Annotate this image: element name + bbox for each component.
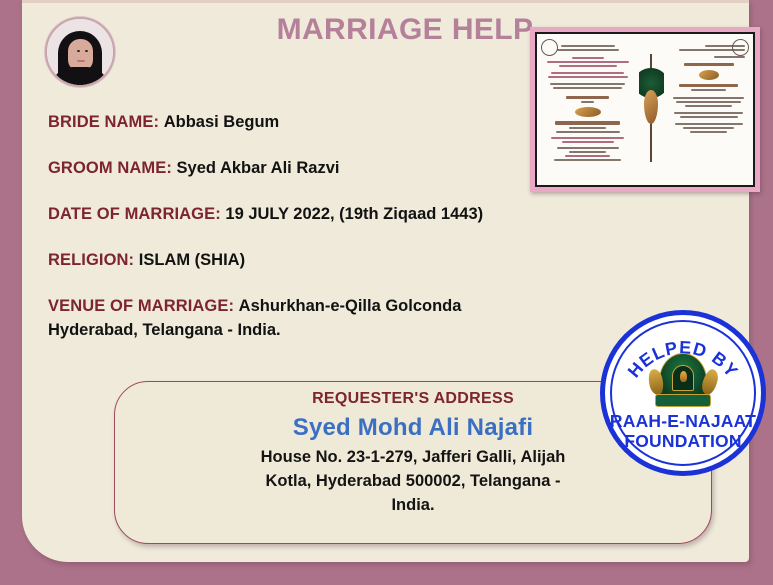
detail-value: Abbasi Begum: [164, 113, 280, 131]
detail-value: Ashurkhan-e-Qilla Golconda: [239, 297, 462, 315]
emblem-banner-shape: [655, 394, 711, 407]
invitation-ornament-column: [639, 34, 665, 185]
invitation-seal-icon: [541, 39, 558, 56]
helped-by-seal: HELPED BY RAAH-E-NAJAAT FOUNDATION: [600, 310, 766, 476]
detail-value: 19 JULY 2022, (19th Ziqaad 1443): [225, 205, 483, 223]
seal-foundation-name: RAAH-E-NAJAAT FOUNDATION: [605, 411, 761, 451]
detail-row-religion: RELIGION: ISLAM (SHIA): [48, 249, 528, 273]
detail-label: VENUE OF MARRIAGE:: [48, 297, 234, 315]
marriage-details-list: BRIDE NAME: Abbasi Begum GROOM NAME: Sye…: [48, 111, 528, 365]
requester-address-text: House No. 23-1-279, Jafferi Galli, Alija…: [248, 446, 578, 518]
invitation-seal-icon-2: [732, 39, 749, 56]
avatar: [45, 17, 115, 87]
page-title: MARRIAGE HELP: [270, 13, 540, 47]
detail-row-groom-name: GROOM NAME: Syed Akbar Ali Razvi: [48, 157, 528, 181]
detail-row-bride-name: BRIDE NAME: Abbasi Begum: [48, 111, 528, 135]
detail-value-line2: Hyderabad, Telangana - India.: [48, 319, 528, 343]
mouth-shape: [77, 60, 85, 62]
wedding-invitation-card[interactable]: [530, 27, 760, 192]
detail-row-venue-of-marriage: VENUE OF MARRIAGE: Ashurkhan-e-Qilla Gol…: [48, 295, 528, 343]
detail-label: BRIDE NAME:: [48, 113, 159, 131]
detail-value: Syed Akbar Ali Razvi: [177, 159, 340, 177]
seal-name-line1: RAAH-E-NAJAAT: [605, 411, 761, 431]
eye-left-shape: [77, 50, 80, 52]
bride-photo: [47, 19, 113, 85]
detail-row-date-of-marriage: DATE OF MARRIAGE: 19 JULY 2022, (19th Zi…: [48, 203, 528, 227]
eye-right-shape: [85, 50, 88, 52]
marriage-help-card: MARRIAGE HELP: [0, 0, 773, 585]
invitation-inner-frame: [535, 32, 755, 187]
detail-label: GROOM NAME:: [48, 159, 172, 177]
seal-name-line2: FOUNDATION: [605, 431, 761, 451]
emblem-flame-icon: [680, 371, 687, 382]
invitation-urdu-column: [664, 34, 753, 185]
detail-value: ISLAM (SHIA): [139, 251, 245, 269]
invitation-english-column: [537, 34, 639, 185]
detail-label: RELIGION:: [48, 251, 134, 269]
foundation-emblem-icon: [653, 353, 713, 405]
content-panel: MARRIAGE HELP: [22, 0, 749, 562]
detail-label: DATE OF MARRIAGE:: [48, 205, 221, 223]
